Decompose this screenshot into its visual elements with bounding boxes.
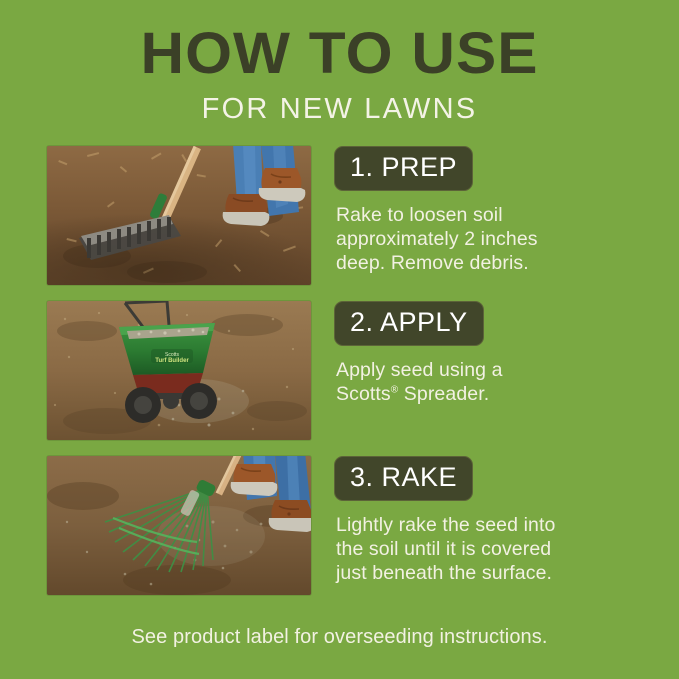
how-to-use-poster: HOW TO USE FOR NEW LAWNS: [0, 0, 679, 679]
step-2-badge: 2. APPLY: [334, 301, 484, 346]
step-row-3: 3. RAKE Lightly rake the seed into the s…: [0, 456, 679, 596]
spreader-illustration: Scotts Turf Builder: [47, 301, 311, 440]
step-3-desc-line-3: just beneath the surface.: [336, 561, 654, 585]
leaf-rake-illustration: [47, 456, 311, 595]
step-1-desc-line-2: approximately 2 inches: [336, 227, 654, 251]
step-3-desc-line-2: the soil until it is covered: [336, 537, 654, 561]
page-title: HOW TO USE: [0, 24, 679, 84]
step-3-badge: 3. RAKE: [334, 456, 473, 501]
step-row-1: 1. PREP Rake to loosen soil approximatel…: [0, 146, 679, 286]
step-1-text: 1. PREP Rake to loosen soil approximatel…: [334, 146, 654, 275]
step-row-2: Scotts Turf Builder 2. APPLY Apply seed: [0, 301, 679, 441]
step-1-photo: [47, 146, 311, 285]
poster-header: HOW TO USE FOR NEW LAWNS: [0, 24, 679, 126]
svg-text:Turf Builder: Turf Builder: [155, 358, 189, 364]
step-3-text: 3. RAKE Lightly rake the seed into the s…: [334, 456, 654, 585]
step-2-description: Apply seed using a Scotts® Spreader.: [336, 358, 654, 406]
step-2-text: 2. APPLY Apply seed using a Scotts® Spre…: [334, 301, 654, 406]
step-3-desc-line-1: Lightly rake the seed into: [336, 513, 654, 537]
step-3-description: Lightly rake the seed into the soil unti…: [336, 513, 654, 585]
step-3-photo: [47, 456, 311, 595]
step-1-desc-line-1: Rake to loosen soil: [336, 203, 654, 227]
step-2-desc-line-1: Apply seed using a: [336, 358, 654, 382]
footer-note: See product label for overseeding instru…: [0, 625, 679, 649]
step-2-photo: Scotts Turf Builder: [47, 301, 311, 440]
page-subtitle: FOR NEW LAWNS: [0, 92, 679, 126]
step-1-badge: 1. PREP: [334, 146, 473, 191]
step-2-desc-line-2: Scotts® Spreader.: [336, 382, 654, 406]
step-1-description: Rake to loosen soil approximately 2 inch…: [336, 203, 654, 275]
rake-soil-illustration: [47, 146, 311, 285]
step-1-desc-line-3: deep. Remove debris.: [336, 251, 654, 275]
